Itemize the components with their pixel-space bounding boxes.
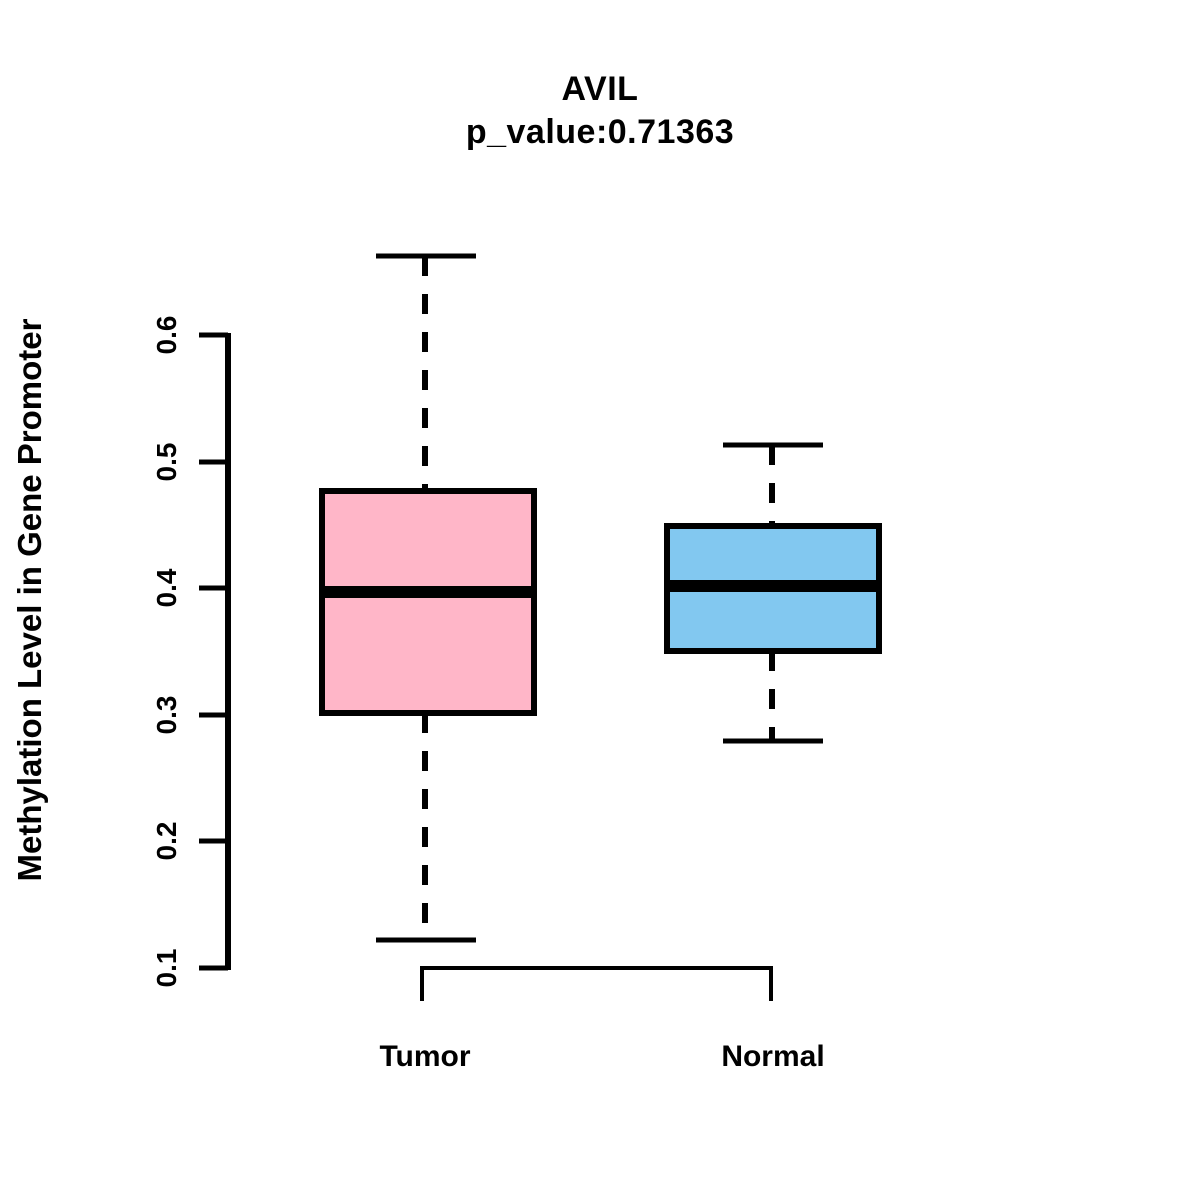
boxplot-normal xyxy=(667,445,879,741)
boxplot-figure: AVIL p_value:0.71363 Methylation Level i… xyxy=(0,0,1200,1200)
y-axis xyxy=(199,333,228,970)
tumor-box xyxy=(322,491,534,713)
boxplot-tumor xyxy=(322,256,534,940)
x-axis xyxy=(420,968,773,1001)
plot-canvas xyxy=(0,0,1200,1200)
